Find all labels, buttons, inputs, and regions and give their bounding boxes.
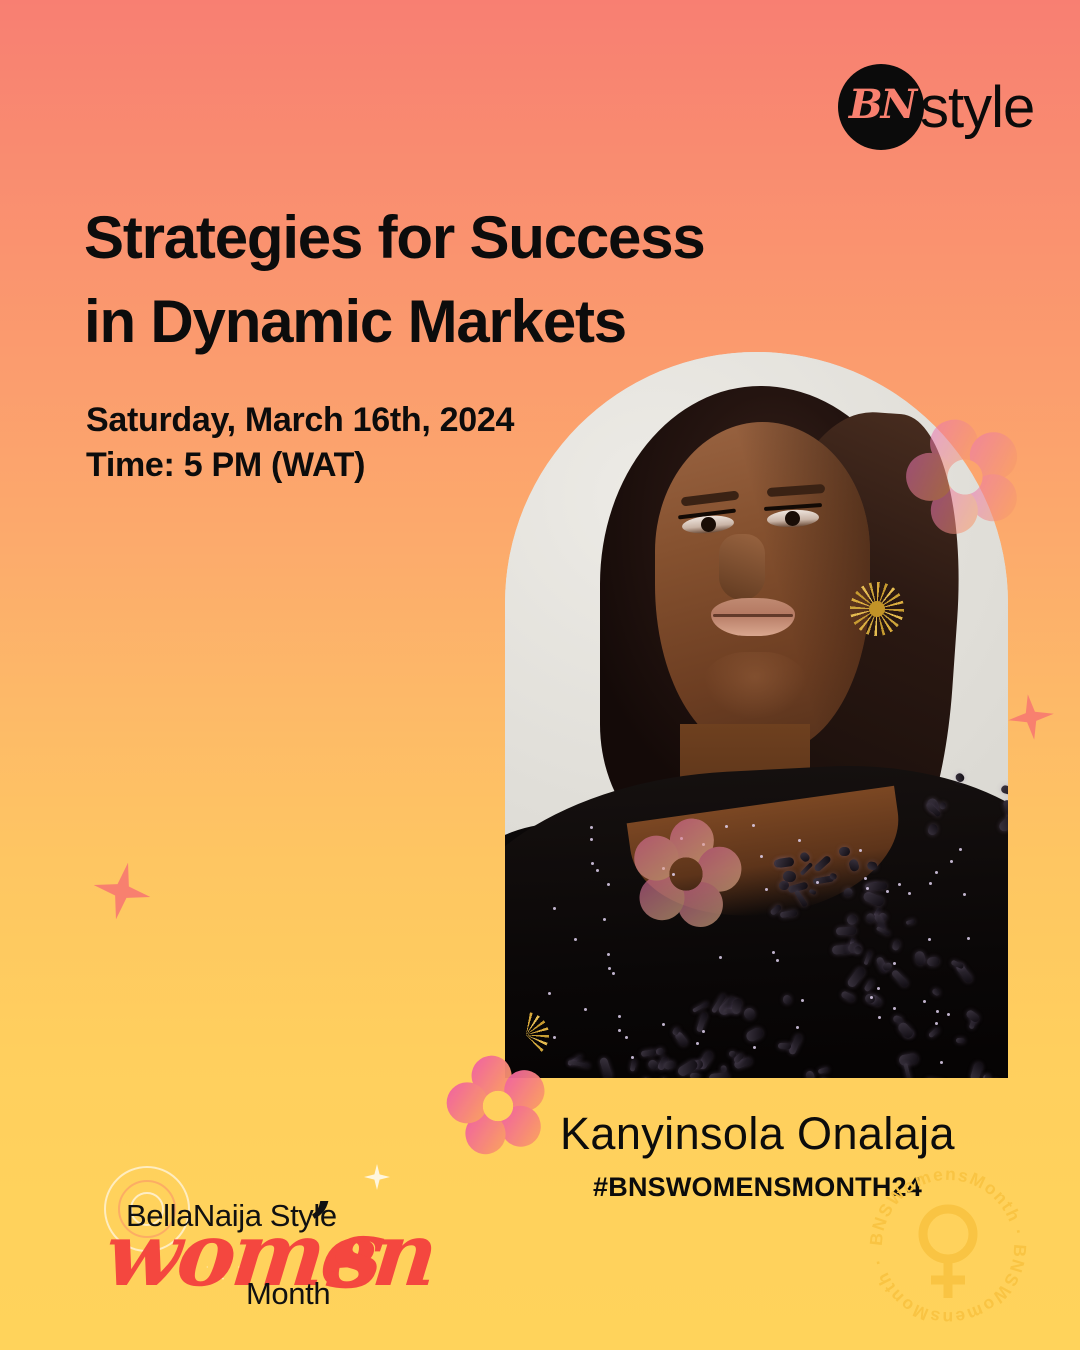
dress-sparkle: [935, 1022, 938, 1025]
lip-line: [713, 614, 793, 617]
dress-sparkle: [591, 862, 594, 865]
dress-sparkle: [947, 1013, 950, 1016]
flower-center-icon: [621, 809, 751, 939]
bead: [939, 801, 946, 809]
dress-sparkle: [898, 883, 901, 886]
dress-sparkle: [878, 1016, 881, 1019]
bn-logo-wordmark: style: [920, 68, 1034, 148]
bead: [984, 1073, 990, 1078]
bn-monogram: BN: [846, 78, 918, 132]
headline-line-1: Strategies for Success: [84, 204, 705, 271]
dress-sparkle: [929, 882, 932, 885]
speaker-name: Kanyinsola Onalaja: [505, 1108, 1010, 1160]
dress-sparkle: [584, 1008, 587, 1011]
bead: [956, 1038, 965, 1043]
dress-sparkle: [796, 1026, 799, 1029]
dress-sparkle: [618, 1029, 621, 1032]
pupil-left: [701, 517, 716, 532]
sparkle-icon: [364, 1164, 390, 1190]
dress-sparkle: [893, 1007, 896, 1010]
dress-sparkle: [612, 972, 615, 975]
earring-starburst: [850, 582, 904, 636]
dress-sparkle: [928, 938, 931, 941]
bead: [836, 926, 857, 935]
apostrophe-glyph: ’: [310, 1188, 332, 1261]
bead: [777, 1042, 790, 1049]
bellanaija-style-label: BellaNaija Style: [126, 1198, 337, 1234]
dress-sparkle: [607, 953, 610, 956]
event-time: Time: 5 PM (WAT): [86, 443, 514, 488]
lips-shape: [711, 598, 795, 636]
headline: Strategies for Success in Dynamic Market…: [84, 196, 784, 364]
dress-sparkle: [765, 888, 768, 891]
pupil-right: [785, 511, 800, 526]
event-details: Saturday, March 16th, 2024 Time: 5 PM (W…: [86, 398, 514, 488]
poster-canvas: BN style Strategies for Success in Dynam…: [0, 0, 1080, 1350]
star-right-icon: [1005, 691, 1057, 743]
dress-sparkle: [696, 1042, 699, 1045]
bead: [708, 1072, 729, 1078]
dress-sparkle: [950, 860, 953, 863]
bns-womens-month-seal: BNSWomensMonth · BNSWomensMonth ·: [860, 1158, 1036, 1334]
dress-sparkle: [870, 996, 873, 999]
bead: [690, 1072, 701, 1078]
month-label: Month: [246, 1276, 330, 1312]
venus-symbol: [923, 1209, 973, 1298]
dress-sparkle: [590, 826, 593, 829]
bn-style-logo[interactable]: BN style: [838, 62, 1028, 154]
star-left-icon: [88, 857, 157, 926]
dress-sparkle: [908, 892, 911, 895]
dress-sparkle: [607, 883, 610, 886]
dress-sparkle: [772, 951, 775, 954]
nose-shape: [719, 534, 765, 600]
event-date: Saturday, March 16th, 2024: [86, 398, 514, 443]
womens-month-logo[interactable]: women BellaNaija Style ’ s Month: [78, 1158, 408, 1318]
svg-text:BNSWomensMonth · BNSWomensMont: BNSWomensMonth · BNSWomensMonth ·: [866, 1164, 1031, 1328]
dress-sparkle: [548, 992, 551, 995]
